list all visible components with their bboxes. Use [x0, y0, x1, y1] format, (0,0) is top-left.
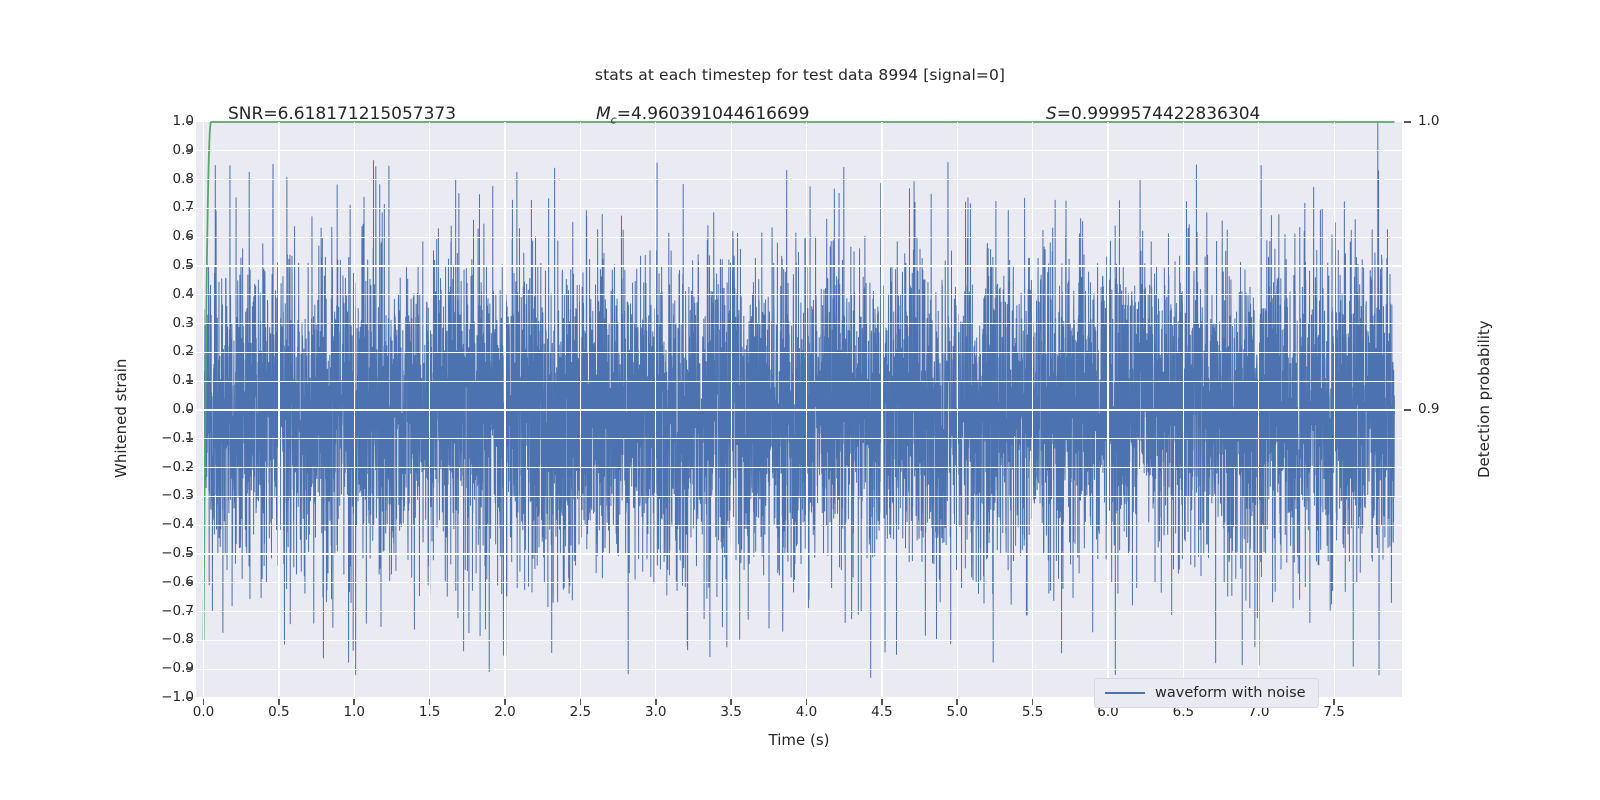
gridline-horizontal: [196, 381, 1402, 382]
gridline-horizontal: [196, 611, 1402, 612]
annotation-mc-equals: =: [617, 104, 631, 124]
x-axis-tick-label: 4.5: [852, 706, 912, 720]
y-axis-left-tick-mark: [186, 380, 193, 382]
gridline-horizontal: [196, 553, 1402, 554]
gridline-vertical: [504, 122, 505, 698]
y-axis-left-tick-mark: [186, 524, 193, 526]
annotation-snr-label: SNR=: [228, 104, 278, 124]
gridline-horizontal: [196, 496, 1402, 497]
y-axis-right-tick-label: 0.9: [1418, 403, 1478, 417]
y-axis-left-tick-label: −1.0: [134, 691, 194, 705]
y-axis-left-tick-label: −0.9: [134, 662, 194, 676]
y-axis-left-tick-label: 0.2: [134, 345, 194, 359]
annotation-score: S=0.9999574422836304: [1046, 104, 1260, 124]
gridline-vertical: [1032, 122, 1033, 698]
plot-area: [196, 122, 1402, 698]
annotation-snr: SNR=6.618171215057373: [228, 104, 456, 124]
x-axis-tick-label: 1.0: [324, 706, 384, 720]
gridline-vertical: [1107, 122, 1108, 698]
y-axis-left-tick-label: −0.3: [134, 489, 194, 503]
gridline-horizontal: [196, 323, 1402, 324]
annotation-mc-value: 4.960391044616699: [631, 104, 809, 124]
gridline-vertical: [203, 122, 204, 698]
gridline-horizontal: [196, 150, 1402, 151]
x-axis-tick-label: 3.5: [701, 706, 761, 720]
gridline-vertical: [354, 122, 355, 698]
gridline-vertical: [881, 122, 882, 698]
gridline-horizontal: [196, 294, 1402, 295]
annotation-s-equals: =: [1057, 104, 1071, 124]
y-axis-left-tick-mark: [186, 265, 193, 267]
x-axis-tick-mark: [580, 699, 582, 705]
y-axis-left-tick-mark: [186, 668, 193, 670]
y-axis-right-tick-mark: [1404, 409, 1411, 411]
x-axis-tick-label: 0.5: [249, 706, 309, 720]
y-axis-left-tick-label: 0.1: [134, 374, 194, 388]
gridline-horizontal: [196, 582, 1402, 583]
y-axis-left-tick-label: −0.4: [134, 518, 194, 532]
gridline-vertical: [1334, 122, 1335, 698]
legend[interactable]: waveform with noise: [1094, 678, 1319, 708]
gridline-vertical: [278, 122, 279, 698]
y-axis-right-tick-mark: [1404, 121, 1411, 123]
y-axis-left-label: Whitened strain: [112, 359, 130, 478]
gridline-vertical: [731, 122, 732, 698]
y-axis-left-tick-label: 0.3: [134, 317, 194, 331]
annotation-s-label: S: [1046, 104, 1057, 124]
x-axis-tick-label: 4.0: [777, 706, 837, 720]
y-axis-left-tick-label: 0.0: [134, 403, 194, 417]
gridline-vertical: [1258, 122, 1259, 698]
x-axis-tick-mark: [1333, 699, 1335, 705]
gridline-horizontal: [196, 409, 1402, 410]
gridline-horizontal: [196, 237, 1402, 238]
annotation-chirp-mass: Mc=4.960391044616699: [596, 104, 809, 126]
x-axis-label: Time (s): [196, 731, 1402, 749]
gridline-vertical: [429, 122, 430, 698]
y-axis-left-tick-mark: [186, 467, 193, 469]
x-axis-tick-mark: [730, 699, 732, 705]
y-axis-left-tick-mark: [186, 323, 193, 325]
annotation-snr-value: 6.618171215057373: [278, 104, 456, 124]
y-axis-left-tick-mark: [186, 208, 193, 210]
y-axis-left-tick-label: −0.1: [134, 432, 194, 446]
y-axis-left-tick-mark: [186, 352, 193, 354]
x-axis-tick-mark: [806, 699, 808, 705]
x-axis-tick-label: 2.0: [475, 706, 535, 720]
x-axis-tick-label: 5.5: [1003, 706, 1063, 720]
y-axis-left-tick-mark: [186, 496, 193, 498]
y-axis-left-tick-label: 1.0: [134, 115, 194, 129]
y-axis-left-tick-mark: [186, 582, 193, 584]
x-axis-tick-label: 7.0: [1229, 706, 1289, 720]
y-axis-left-tick-label: 0.9: [134, 144, 194, 158]
y-axis-left-tick-mark: [186, 121, 193, 123]
y-axis-left-tick-mark: [186, 179, 193, 181]
y-axis-left-tick-label: −0.7: [134, 605, 194, 619]
y-axis-left-tick-mark: [186, 697, 193, 699]
x-axis-tick-mark: [956, 699, 958, 705]
y-axis-left-tick-label: −0.6: [134, 576, 194, 590]
y-axis-left-tick-mark: [186, 640, 193, 642]
y-axis-left-tick-label: −0.2: [134, 461, 194, 475]
figure-canvas: stats at each timestep for test data 899…: [0, 0, 1600, 800]
y-axis-right-tick-label: 1.0: [1418, 115, 1478, 129]
y-axis-left-tick-mark: [186, 150, 193, 152]
x-axis-tick-mark: [1032, 699, 1034, 705]
x-axis-tick-mark: [881, 699, 883, 705]
x-axis-tick-mark: [353, 699, 355, 705]
x-axis-tick-mark: [655, 699, 657, 705]
y-axis-left-tick-label: 0.6: [134, 230, 194, 244]
y-axis-right-label: Detection probability: [1475, 320, 1493, 478]
y-axis-left-tick-label: −0.8: [134, 633, 194, 647]
y-axis-left-tick-label: 0.7: [134, 201, 194, 215]
gridline-horizontal: [196, 265, 1402, 266]
y-axis-left-tick-mark: [186, 553, 193, 555]
x-axis-tick-label: 6.5: [1153, 706, 1213, 720]
gridline-horizontal: [196, 467, 1402, 468]
gridline-vertical: [1183, 122, 1184, 698]
annotation-s-value: 0.9999574422836304: [1071, 104, 1260, 124]
legend-label-waveform: waveform with noise: [1155, 685, 1306, 701]
y-axis-left-tick-mark: [186, 294, 193, 296]
y-axis-left-tick-mark: [186, 409, 193, 411]
x-axis-tick-label: 7.5: [1304, 706, 1364, 720]
x-axis-tick-label: 5.0: [927, 706, 987, 720]
gridline-vertical: [580, 122, 581, 698]
y-axis-left-tick-label: 0.5: [134, 259, 194, 273]
x-axis-tick-mark: [429, 699, 431, 705]
y-axis-left-tick-mark: [186, 438, 193, 440]
y-axis-left-tick-label: 0.8: [134, 173, 194, 187]
x-axis-tick-mark: [278, 699, 280, 705]
y-axis-left-tick-label: −0.5: [134, 547, 194, 561]
gridline-horizontal: [196, 669, 1402, 670]
annotation-mc-label: M: [596, 104, 611, 124]
gridline-horizontal: [196, 352, 1402, 353]
x-axis-tick-label: 1.5: [400, 706, 460, 720]
legend-swatch-waveform: [1105, 692, 1145, 694]
y-axis-left-tick-mark: [186, 236, 193, 238]
x-axis-tick-label: 3.0: [626, 706, 686, 720]
gridline-vertical: [957, 122, 958, 698]
chart-title: stats at each timestep for test data 899…: [0, 66, 1600, 84]
gridline-horizontal: [196, 438, 1402, 439]
x-axis-tick-mark: [504, 699, 506, 705]
x-axis-tick-label: 6.0: [1078, 706, 1138, 720]
gridline-vertical: [806, 122, 807, 698]
x-axis-tick-label: 0.0: [174, 706, 234, 720]
gridline-horizontal: [196, 179, 1402, 180]
gridline-horizontal: [196, 208, 1402, 209]
gridline-horizontal: [196, 525, 1402, 526]
x-axis-tick-mark: [203, 699, 205, 705]
y-axis-left-tick-label: 0.4: [134, 288, 194, 302]
gridline-vertical: [655, 122, 656, 698]
x-axis-tick-label: 2.5: [550, 706, 610, 720]
gridline-horizontal: [196, 640, 1402, 641]
y-axis-left-tick-mark: [186, 611, 193, 613]
